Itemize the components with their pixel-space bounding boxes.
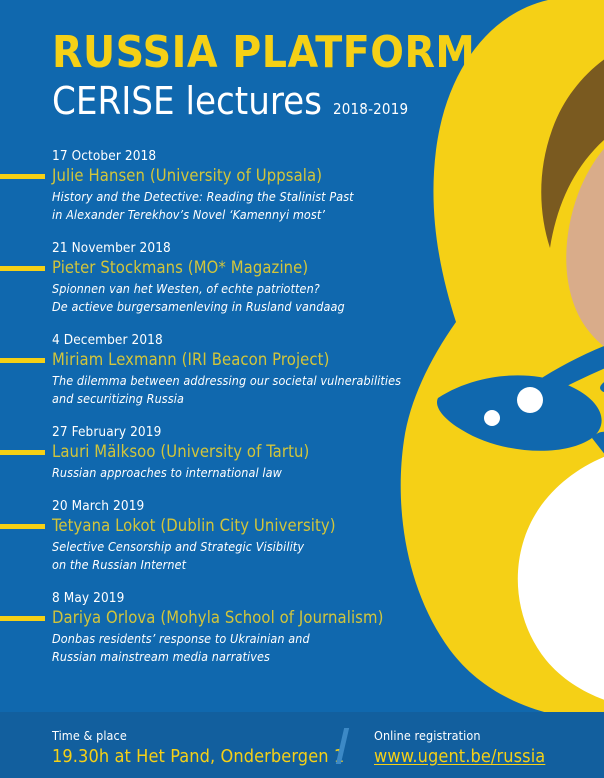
dash-marker-icon: [0, 266, 45, 271]
lecture-description-line-1: History and the Detective: Reading the S…: [52, 189, 430, 205]
doll-flower-dot-1: [517, 387, 543, 413]
lecture-speaker-row: Miriam Lexmann (IRI Beacon Project): [0, 349, 430, 371]
poster-canvas: RUSSIA PLATFORM CERISE lectures 2018-201…: [0, 0, 604, 778]
doll-flower-dot-2: [484, 410, 500, 426]
dash-marker-icon: [0, 174, 45, 179]
lecture-speaker: Pieter Stockmans (MO* Magazine): [52, 257, 308, 278]
lecture-date: 27 February 2019: [52, 424, 430, 441]
lecture-speaker-row: Dariya Orlova (Mohyla School of Journali…: [0, 607, 430, 629]
time-and-place-value: 19.30h at Het Pand, Onderbergen 1: [52, 745, 344, 768]
dash-marker-icon: [0, 358, 45, 363]
lecture-description-line-2: in Alexander Terekhov’s Novel ‘Kamennyi …: [52, 207, 430, 223]
time-and-place-label: Time & place: [52, 728, 344, 744]
doll-scarf-fold: [480, 320, 604, 425]
lecture-speaker: Dariya Orlova (Mohyla School of Journali…: [52, 607, 383, 628]
lecture-speaker: Miriam Lexmann (IRI Beacon Project): [52, 349, 329, 370]
lecture-speaker: Lauri Mälksoo (University of Tartu): [52, 441, 309, 462]
lecture-speaker-row: Julie Hansen (University of Uppsala): [0, 165, 430, 187]
lecture-speaker-row: Lauri Mälksoo (University of Tartu): [0, 441, 430, 463]
list-item: 21 November 2018 Pieter Stockmans (MO* M…: [0, 240, 430, 315]
registration-url-link[interactable]: www.ugent.be/russia: [374, 745, 545, 768]
time-and-place-block: Time & place 19.30h at Het Pand, Onderbe…: [52, 728, 344, 768]
subtitle-row: CERISE lectures 2018-2019: [52, 79, 452, 123]
lecture-description-line-2: De actieve burgersamenleving in Rusland …: [52, 299, 430, 315]
lecture-speaker-row: Tetyana Lokot (Dublin City University): [0, 515, 430, 537]
lecture-date: 21 November 2018: [52, 240, 430, 257]
lecture-description-line-2: on the Russian Internet: [52, 557, 430, 573]
doll-face: [566, 116, 604, 374]
doll-apron: [518, 442, 604, 712]
doll-flower-leaf-2: [600, 342, 604, 404]
dash-marker-icon: [0, 450, 45, 455]
lecture-date: 4 December 2018: [52, 332, 430, 349]
lecture-description-line-2: Russian mainstream media narratives: [52, 649, 430, 665]
doll-flower-leaf-1: [437, 375, 602, 450]
lecture-description-line-1: The dilemma between addressing our socie…: [52, 373, 430, 389]
lecture-speaker: Tetyana Lokot (Dublin City University): [52, 515, 336, 536]
doll-hair: [541, 28, 604, 248]
lecture-description-line-2: and securitizing Russia: [52, 391, 430, 407]
lecture-date: 8 May 2019: [52, 590, 430, 607]
lecture-date: 17 October 2018: [52, 148, 430, 165]
lecture-description-line-1: Spionnen van het Westen, of echte patrio…: [52, 281, 430, 297]
dash-marker-icon: [0, 524, 45, 529]
list-item: 17 October 2018 Julie Hansen (University…: [0, 148, 430, 223]
poster-header: RUSSIA PLATFORM CERISE lectures 2018-201…: [52, 28, 452, 123]
list-item: 8 May 2019 Dariya Orlova (Mohyla School …: [0, 590, 430, 665]
list-item: 20 March 2019 Tetyana Lokot (Dublin City…: [0, 498, 430, 573]
lecture-description-line-1: Russian approaches to international law: [52, 465, 430, 481]
dash-marker-icon: [0, 616, 45, 621]
doll-flower-stem: [592, 432, 604, 542]
registration-label: Online registration: [374, 728, 545, 744]
list-item: 4 December 2018 Miriam Lexmann (IRI Beac…: [0, 332, 430, 407]
lecture-speaker: Julie Hansen (University of Uppsala): [52, 165, 322, 186]
lecture-description-line-1: Donbas residents’ response to Ukrainian …: [52, 631, 430, 647]
lecture-list: 17 October 2018 Julie Hansen (University…: [0, 148, 430, 682]
lecture-date: 20 March 2019: [52, 498, 430, 515]
list-item: 27 February 2019 Lauri Mälksoo (Universi…: [0, 424, 430, 481]
page-subtitle: CERISE lectures: [52, 79, 322, 123]
lecture-speaker-row: Pieter Stockmans (MO* Magazine): [0, 257, 430, 279]
academic-year-label: 2018-2019: [333, 100, 408, 118]
poster-footer: Time & place 19.30h at Het Pand, Onderbe…: [0, 712, 604, 778]
page-title: RUSSIA PLATFORM: [52, 28, 452, 78]
registration-block: Online registration www.ugent.be/russia: [374, 728, 545, 768]
lecture-description-line-1: Selective Censorship and Strategic Visib…: [52, 539, 430, 555]
